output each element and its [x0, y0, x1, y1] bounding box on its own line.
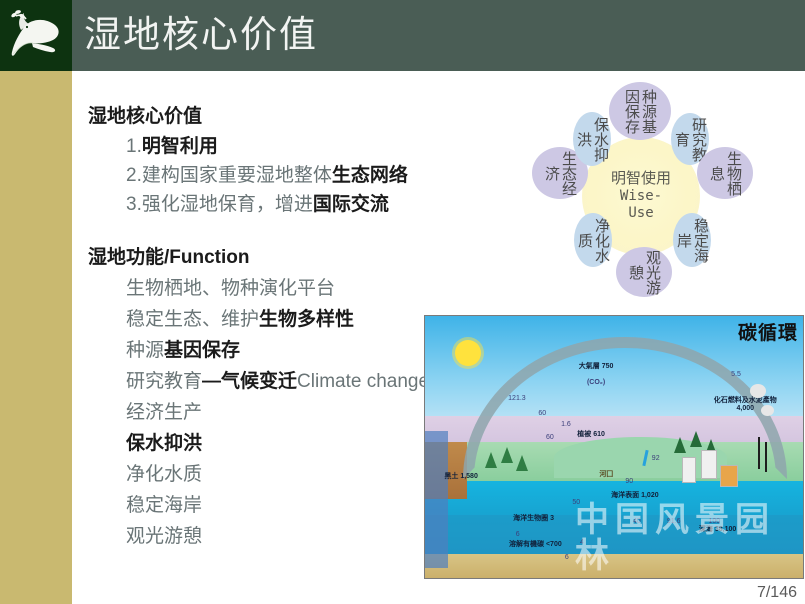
- factory-shape: [720, 465, 738, 487]
- dove-with-olive-branch-icon: [3, 4, 69, 68]
- spacer: [88, 219, 558, 245]
- label-vegetation: 植被 610: [561, 431, 621, 439]
- flux-number: 6: [565, 554, 569, 561]
- flux-number: 6: [516, 531, 520, 538]
- tree-shape: [485, 452, 497, 468]
- tree-shape: [501, 447, 513, 463]
- cross-section-face: [425, 431, 448, 567]
- flux-number: 1.6: [561, 421, 571, 428]
- list-item-bold: 基因保存: [164, 340, 240, 361]
- list-item-plain: 种源: [126, 340, 164, 361]
- left-accent-bar: [0, 71, 72, 604]
- list-item: 2.建构国家重要湿地整体生态网络: [126, 161, 558, 190]
- list-item-bold: 生物多样性: [259, 309, 354, 330]
- carbon-cycle-image: 碳循環 大氣層 750 (CO₂) 植被 610 黑土 1,580 化石燃料及水…: [424, 315, 804, 579]
- diagram-node-label: 生物栖息: [708, 147, 742, 199]
- sun-icon: [455, 340, 481, 366]
- list-item: 3.强化湿地保育，增进国际交流: [126, 190, 558, 219]
- list-item-plain: 观光游憩: [126, 526, 202, 547]
- list-item-bold: —气候变迁: [202, 371, 297, 392]
- list-item-plain: 3.强化湿地保育，增进: [126, 194, 313, 215]
- label-atmosphere-sub: (CO₂): [561, 379, 631, 387]
- diagram-node-water-purification[interactable]: 净化水质: [574, 213, 612, 267]
- tree-shape: [516, 455, 528, 471]
- label-atmosphere: 大氣層 750: [561, 363, 631, 371]
- list-item-plain: 生物栖地、物种演化平台: [126, 278, 335, 299]
- diagram-node-label: 稳定海岸: [675, 213, 709, 267]
- list-item-plain: 1.: [126, 136, 142, 157]
- diagram-node-flood-control[interactable]: 保水抑洪: [573, 112, 611, 166]
- section-title-core-value: 湿地核心价值: [88, 104, 558, 130]
- list-item-plain: 稳定生态、维护: [126, 309, 259, 330]
- wise-use-diagram: 明智使用 Wise- Use 种源基因保存 研究教育 生物栖息 稳定海岸 观光游…: [530, 85, 754, 307]
- list-item-plain: 研究教育: [126, 371, 202, 392]
- diagram-node-habitat[interactable]: 生物栖息: [697, 147, 753, 199]
- flux-number: 90: [625, 478, 633, 485]
- building-shape: [682, 457, 696, 483]
- list-item: 1.明智利用: [126, 132, 558, 161]
- list-item-bold: 国际交流: [313, 194, 389, 215]
- diagram-center-label-cn: 明智使用: [611, 170, 671, 188]
- list-item-plain: 稳定海岸: [126, 495, 202, 516]
- flux-number: 121.3: [508, 395, 526, 402]
- tree-shape: [690, 431, 702, 447]
- list-item-bold: 明智利用: [142, 136, 218, 157]
- list-item-plain: 2.建构国家重要湿地整体: [126, 165, 332, 186]
- list-item-bold: 保水抑洪: [126, 433, 202, 454]
- tree-shape: [674, 437, 686, 453]
- diagram-node-tourism[interactable]: 观光游憩: [616, 247, 672, 297]
- label-soil: 黑土 1,580: [440, 473, 482, 481]
- list-item-plain: 经济生产: [126, 402, 202, 423]
- smokestack-shape: [765, 442, 767, 472]
- list-item: 生物栖地、物种演化平台: [126, 273, 558, 304]
- slide-canvas: 湿地核心价值 湿地核心价值 1.明智利用 2.建构国家重要湿地整体生态网络 3.…: [0, 0, 805, 604]
- watermark: 中国风景园林: [575, 502, 803, 574]
- diagram-node-label: 种源基因保存: [623, 82, 657, 140]
- label-ocean-surface: 海洋表面 1,020: [599, 492, 671, 500]
- page-title: 湿地核心价值: [84, 11, 318, 59]
- label-marine-biota: 海洋生物圈 3: [501, 515, 567, 523]
- building-shape: [701, 450, 717, 479]
- label-dissolved-carbon: 溶解有機碳 <700: [504, 541, 566, 549]
- page-number: 7/146: [757, 584, 797, 602]
- flux-number: 5.5: [731, 371, 741, 378]
- section-title-function: 湿地功能/Function: [88, 245, 558, 271]
- diagram-center-label-en-2: Use: [628, 205, 653, 222]
- diagram-node-label: 观光游憩: [627, 247, 661, 297]
- label-estuary: 河囗: [591, 471, 621, 479]
- list-item-bold: 生态网络: [332, 165, 408, 186]
- diagram-center-label-en-1: Wise-: [620, 188, 662, 205]
- diagram-node-coast-stability[interactable]: 稳定海岸: [673, 213, 711, 267]
- diagram-node-label: 净化水质: [576, 213, 610, 267]
- flux-number: 60: [538, 410, 546, 417]
- list-item-plain: 净化水质: [126, 464, 202, 485]
- logo-box: [0, 0, 72, 71]
- diagram-node-gene-preservation[interactable]: 种源基因保存: [609, 82, 671, 140]
- diagram-node-label: 保水抑洪: [575, 112, 609, 166]
- diagram-node-label: 生态经济: [543, 147, 577, 199]
- flux-number: 60: [546, 434, 554, 441]
- flux-number: 92: [652, 455, 660, 462]
- carbon-image-title: 碳循環: [738, 318, 798, 345]
- smokestack-shape: [758, 437, 760, 469]
